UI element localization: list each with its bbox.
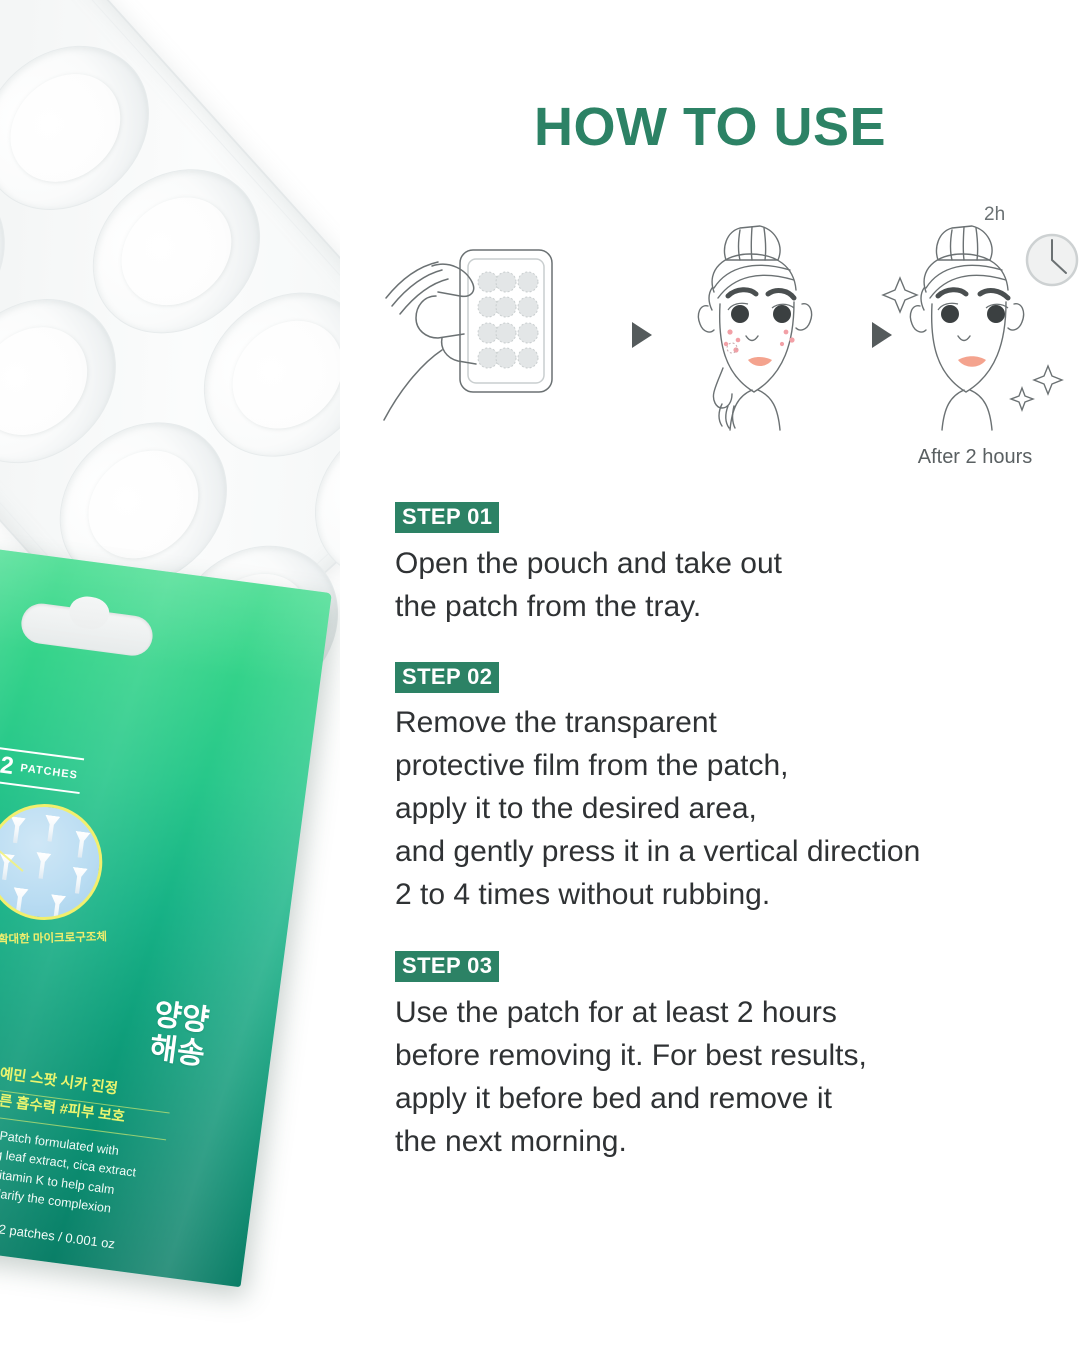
step-badge: STEP 03 (395, 951, 499, 982)
microneedle-icon (48, 894, 66, 922)
magnifier-caption: 확대한 마이크로구조체 (0, 928, 133, 948)
microneedle-icon (72, 831, 90, 859)
step-item: STEP 03 Use the patch for at least 2 hou… (395, 951, 1075, 1164)
step-badge: STEP 01 (395, 502, 499, 533)
step-text: Use the patch for at least 2 hours befor… (395, 991, 1075, 1164)
hashtag-line-1: #예민 스팟 시카 진정 (0, 1065, 119, 1097)
microneedle-icon (42, 815, 60, 843)
face-applying-patch-icon (668, 218, 858, 438)
after-hours-caption: After 2 hours (850, 446, 1080, 469)
illustration-row: 2h (380, 200, 1070, 460)
step-text: Open the pouch and take out the patch fr… (395, 542, 1075, 628)
clock-icon (1027, 235, 1077, 285)
patch-count-number: 12 (0, 750, 15, 781)
patch-count-word: PATCHES (20, 762, 79, 781)
product-pouch-image: QUICK CALMING Spot Patch 12 PATCHES 확대한 … (0, 527, 332, 1288)
pouch-korean-name: 양양 해송 (148, 998, 212, 1072)
microneedle-magnifier-graphic (0, 797, 109, 927)
hand-holding-tray-icon (380, 234, 600, 424)
page-title: HOW TO USE (340, 96, 1080, 158)
step-text: Remove the transparent protective film f… (395, 702, 1075, 916)
clear-face-result-icon (880, 218, 1080, 438)
pouch-hang-hole (19, 601, 155, 658)
microneedle-icon (8, 816, 26, 844)
microneedle-icon (10, 887, 28, 915)
step-badge: STEP 02 (395, 662, 499, 693)
instructions-pane: HOW TO USE (340, 0, 1080, 1350)
step-item: STEP 01 Open the pouch and take out the … (395, 502, 1075, 628)
microneedle-icon (70, 867, 88, 895)
sparkle-icon (883, 278, 1062, 410)
step-item: STEP 02 Remove the transparent protectiv… (395, 662, 1075, 916)
product-photo-pane: QUICK CALMING Spot Patch 12 PATCHES 확대한 … (0, 0, 340, 1350)
microneedle-icon (33, 852, 51, 880)
arrow-step1-to-step2 (632, 322, 652, 348)
steps-list: STEP 01 Open the pouch and take out the … (395, 502, 1075, 1198)
